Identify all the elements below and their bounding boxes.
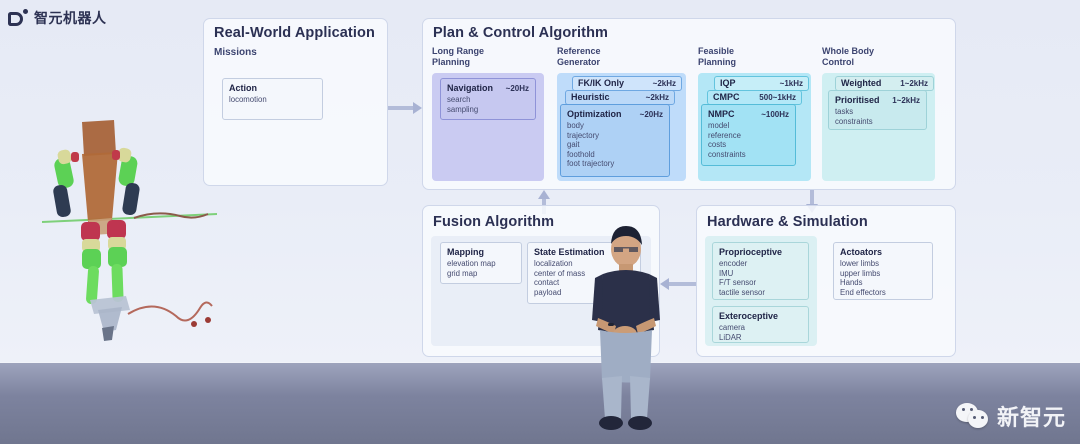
real-world-sub-label: Missions [214, 47, 257, 58]
card-weighted-title: Weighted [841, 78, 881, 88]
card-optimization-freq: ~20Hz [630, 110, 663, 119]
card-optimization[interactable]: Optimization ~20Hz body trajectory gait … [560, 104, 670, 177]
card-action-title: Action [229, 83, 257, 93]
presenter-person [578, 222, 674, 432]
card-navigation[interactable]: Navigation ~20Hz search sampling [440, 78, 536, 120]
card-iqp-title: IQP [720, 78, 736, 88]
card-fk-ik-only-freq: ~2kHz [643, 79, 676, 88]
column-label-long-range-planning: Long Range Planning [432, 46, 484, 68]
card-action-items: locomotion [229, 95, 316, 105]
card-exteroceptive-title: Exteroceptive [719, 311, 778, 321]
card-heuristic-title: Heuristic [571, 92, 610, 102]
watermark: 新智元 [956, 400, 1066, 432]
card-iqp-freq: ~1kHz [770, 79, 803, 88]
column-label-whole-body-control: Whole Body Control [822, 46, 874, 68]
real-world-title: Real-World Application [214, 25, 375, 41]
card-fk-ik-only-title: FK/IK Only [578, 78, 624, 88]
card-nmpc-items: model reference costs constraints [708, 121, 789, 159]
card-navigation-items: search sampling [447, 95, 529, 114]
card-optimization-items: body trajectory gait foothold foot traje… [567, 121, 663, 169]
arrow-realworld-to-plan [388, 102, 422, 114]
card-optimization-title: Optimization [567, 109, 622, 119]
card-proprioceptive-items: encoder IMU F/T sensor tactile sensor [719, 259, 802, 297]
card-prioritised-title: Prioritised [835, 95, 880, 105]
card-exteroceptive-items: camera LiDAR [719, 323, 802, 342]
card-navigation-title: Navigation [447, 83, 493, 93]
card-weighted-freq: 1~2kHz [890, 79, 928, 88]
stage-floor [0, 363, 1080, 444]
card-proprioceptive[interactable]: Proprioceptive encoder IMU F/T sensor ta… [712, 242, 809, 300]
card-action[interactable]: Action locomotion [222, 78, 323, 120]
card-exteroceptive[interactable]: Exteroceptive camera LiDAR [712, 306, 809, 343]
card-heuristic-freq: ~2kHz [636, 93, 669, 102]
card-mapping-items: elevation map grid map [447, 259, 515, 278]
hardware-title: Hardware & Simulation [707, 214, 868, 230]
card-prioritised[interactable]: Prioritised 1~2kHz tasks constraints [828, 90, 927, 130]
card-actuators-title: Actoators [840, 247, 882, 257]
plan-control-title: Plan & Control Algorithm [433, 25, 608, 41]
card-prioritised-freq: 1~2kHz [882, 96, 920, 105]
card-prioritised-items: tasks constraints [835, 107, 920, 126]
card-cmpc-title: CMPC [713, 92, 740, 102]
fusion-title: Fusion Algorithm [433, 214, 554, 230]
humanoid-robot-simulation [42, 92, 217, 342]
wechat-icon [956, 403, 990, 429]
card-mapping-title: Mapping [447, 247, 484, 257]
card-cmpc[interactable]: CMPC 500~1kHz [707, 90, 802, 105]
card-fk-ik-only[interactable]: FK/IK Only ~2kHz [572, 76, 682, 91]
card-nmpc-freq: ~100Hz [751, 110, 789, 119]
card-cmpc-freq: 500~1kHz [749, 93, 796, 102]
column-label-reference-generator: Reference Generator [557, 46, 601, 68]
card-navigation-freq: ~20Hz [496, 84, 529, 93]
card-weighted[interactable]: Weighted 1~2kHz [835, 76, 934, 91]
card-nmpc[interactable]: NMPC ~100Hz model reference costs constr… [701, 104, 796, 166]
card-heuristic[interactable]: Heuristic ~2kHz [565, 90, 675, 105]
card-proprioceptive-title: Proprioceptive [719, 247, 782, 257]
card-mapping[interactable]: Mapping elevation map grid map [440, 242, 522, 284]
column-label-feasible-planning: Feasible Planning [698, 46, 736, 68]
card-actuators[interactable]: Actoators lower limbs upper limbs Hands … [833, 242, 933, 300]
watermark-name: 新智元 [997, 400, 1066, 432]
card-iqp[interactable]: IQP ~1kHz [714, 76, 809, 91]
card-nmpc-title: NMPC [708, 109, 735, 119]
card-actuators-items: lower limbs upper limbs Hands End effect… [840, 259, 926, 297]
